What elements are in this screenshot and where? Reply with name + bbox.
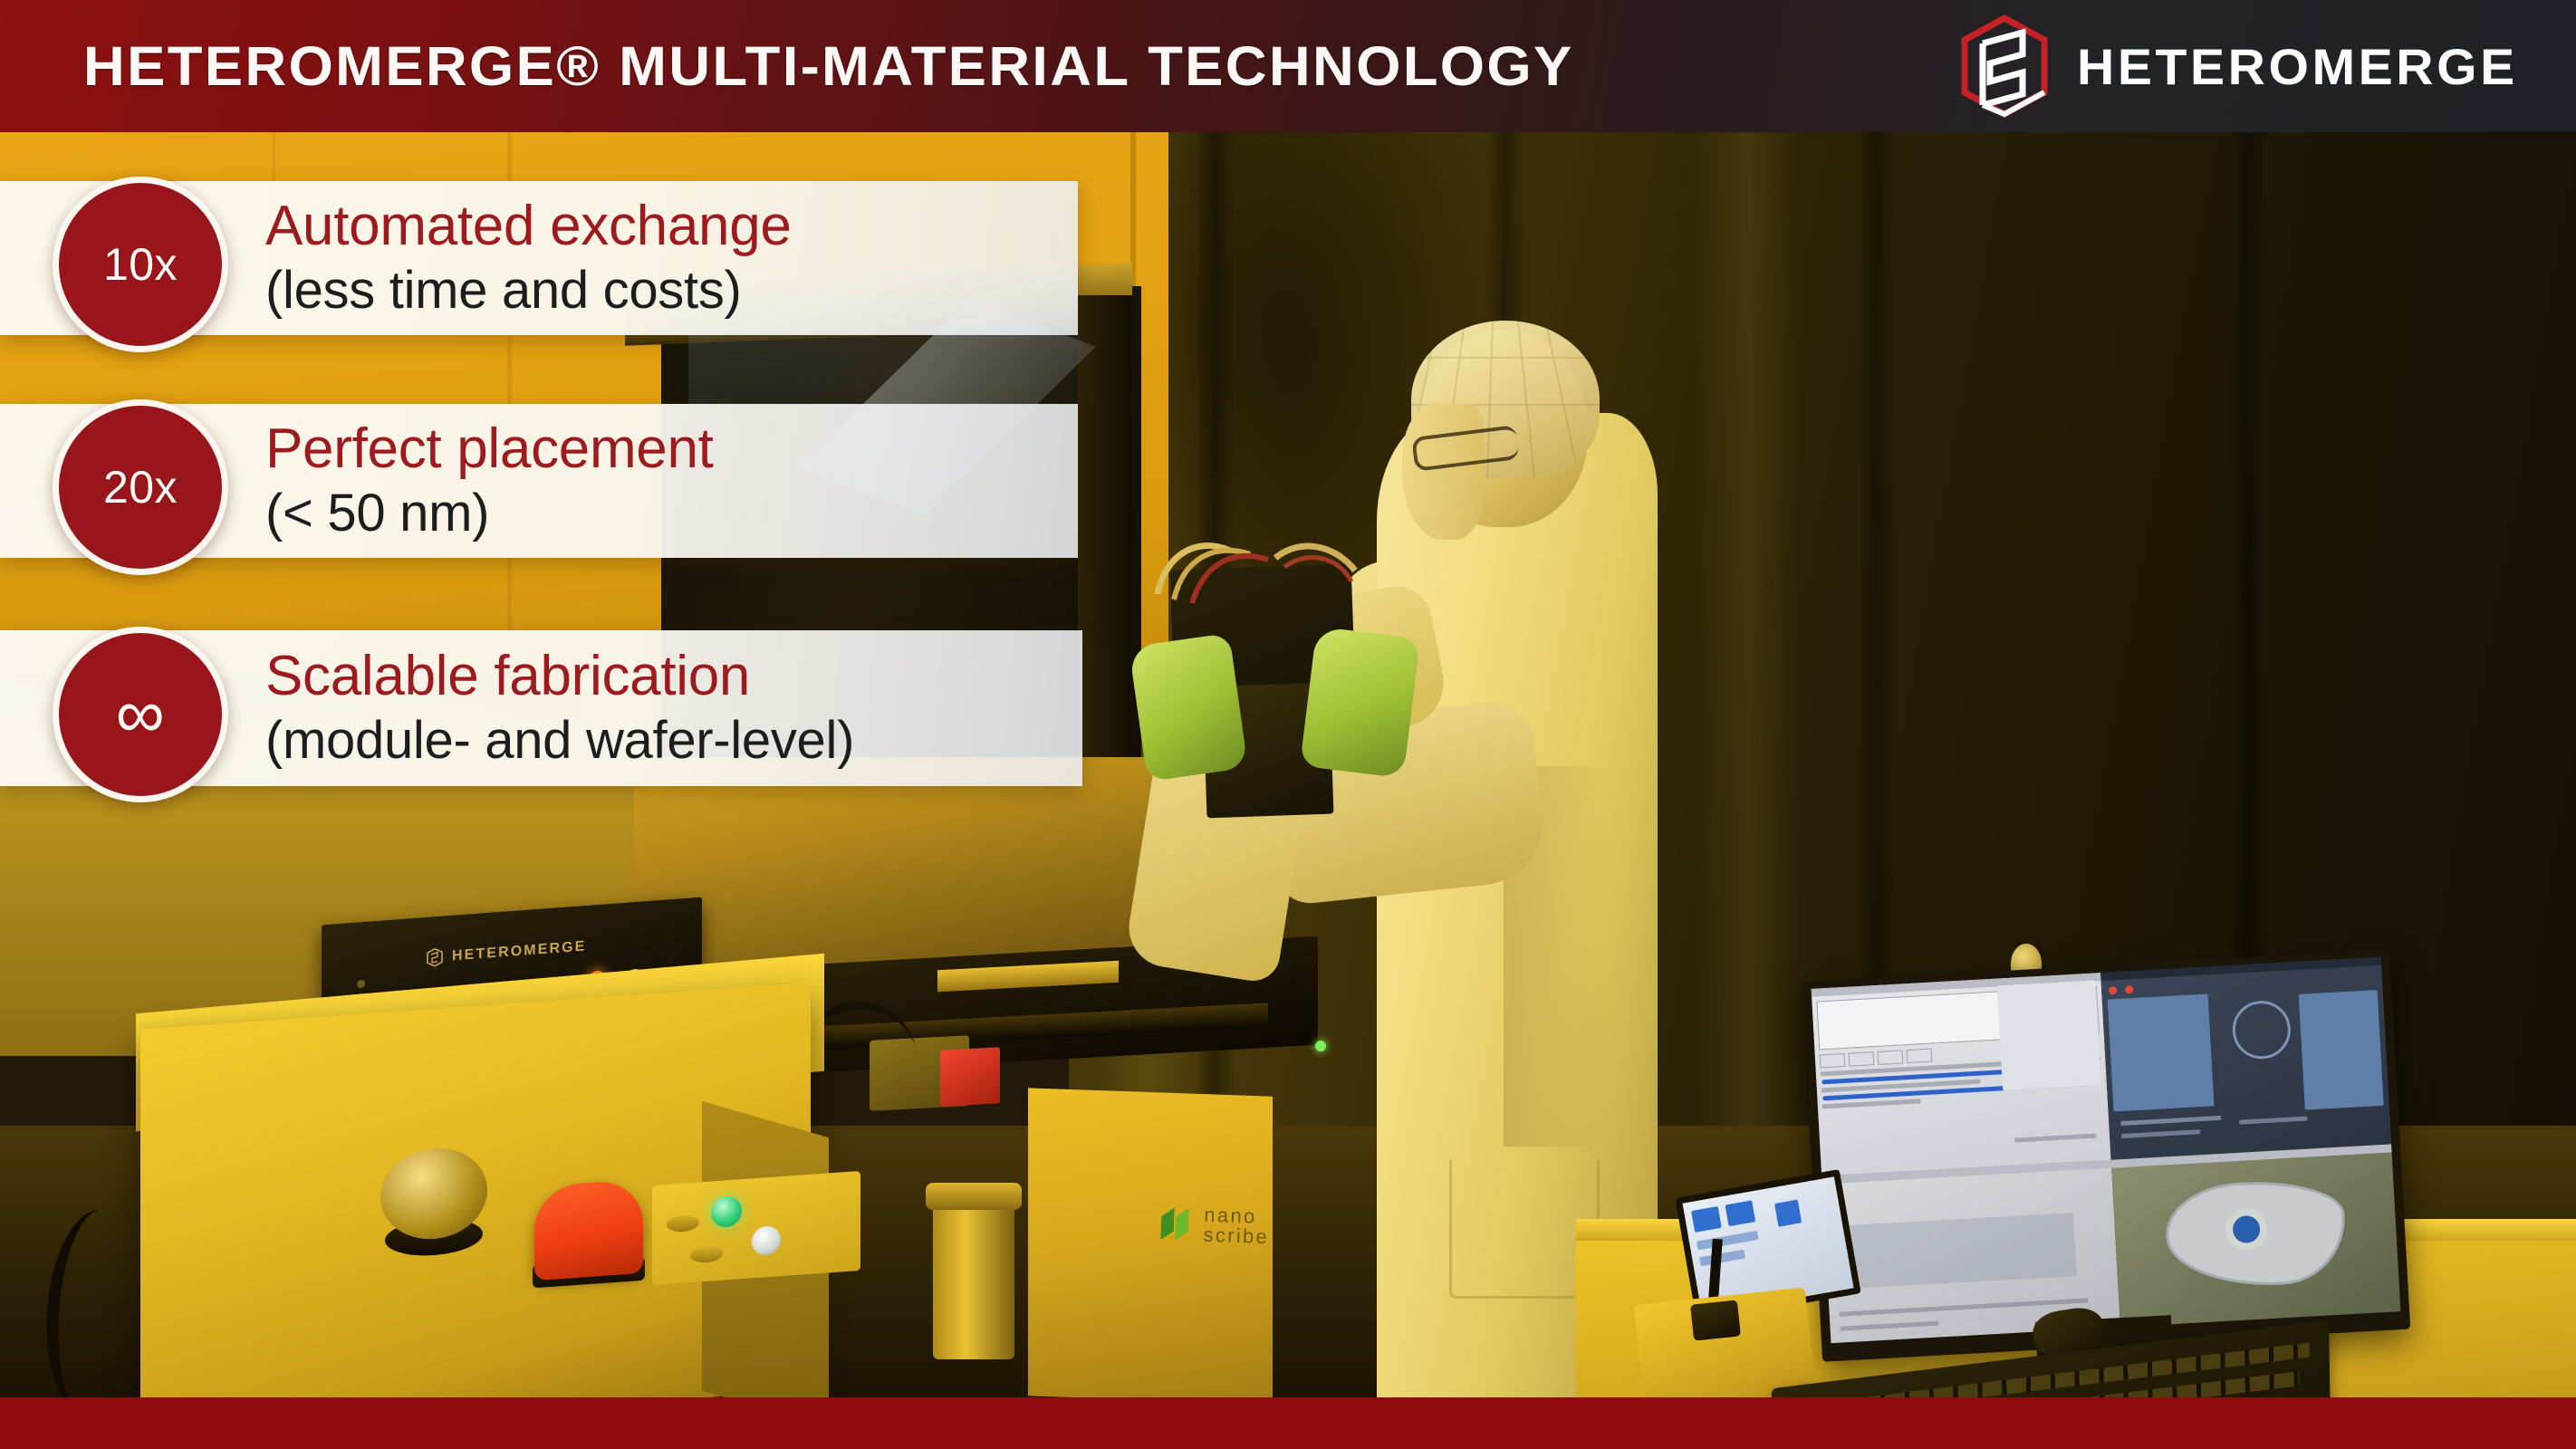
callout-badge-text-1: 10x — [103, 238, 178, 291]
callout-headline-1: Automated exchange — [265, 195, 792, 258]
callout-headline-3: Scalable fabrication — [265, 645, 854, 708]
callout-card-2[interactable]: 20x Perfect placement (< 50 nm) — [0, 404, 1078, 558]
stage-status-led — [1315, 1041, 1326, 1051]
heteromerge-software-pane[interactable] — [2100, 957, 2391, 1160]
nanoscribe-logo: nano scribe — [1157, 1204, 1270, 1247]
header-bar: HETEROMERGE® MULTI-MATERIAL TECHNOLOGY H… — [0, 0, 2576, 132]
callout-card-3[interactable]: ∞ Scalable fabrication (module- and wafe… — [0, 630, 1082, 786]
callout-badge-2: 20x — [53, 399, 228, 575]
callout-headline-2: Perfect placement — [265, 417, 714, 481]
callout-subline-3: (module- and wafer-level) — [265, 708, 854, 773]
red-connector-block — [940, 1047, 1000, 1106]
callout-card-1[interactable]: 10x Automated exchange (less time and co… — [0, 181, 1078, 335]
callout-badge-1: 10x — [53, 177, 228, 352]
camera-view-pane[interactable] — [2110, 1144, 2400, 1327]
callout-badge-3: ∞ — [53, 627, 228, 802]
brand-wordmark: HETEROMERGE — [2077, 37, 2518, 96]
heteromerge-cube-icon — [426, 947, 444, 967]
callout-badge-text-3: ∞ — [116, 687, 166, 742]
slide-root: nano scribe HETEROMERGE — [0, 0, 2576, 1449]
callout-subline-2: (< 50 nm) — [265, 481, 714, 546]
nanoscribe-leaf-icon — [1157, 1204, 1195, 1244]
module-wiring — [1149, 531, 1375, 612]
control-software-pane[interactable] — [1812, 973, 2111, 1176]
heteromerge-cube-icon — [1956, 13, 2053, 120]
page-title: HETEROMERGE® MULTI-MATERIAL TECHNOLOGY — [83, 34, 1574, 98]
glove-right-icon — [1300, 627, 1420, 779]
callout-subline-1: (less time and costs) — [265, 258, 792, 323]
footer-bar — [0, 1397, 2576, 1449]
callout-badge-text-2: 20x — [103, 461, 178, 513]
glove-left-icon — [1129, 633, 1248, 782]
brand-logo[interactable]: HETEROMERGE — [1956, 13, 2509, 120]
nanoscribe-wordmark-line2: scribe — [1203, 1225, 1269, 1248]
emergency-stop-icon — [534, 1179, 643, 1281]
monitor-screen — [1812, 957, 2401, 1344]
